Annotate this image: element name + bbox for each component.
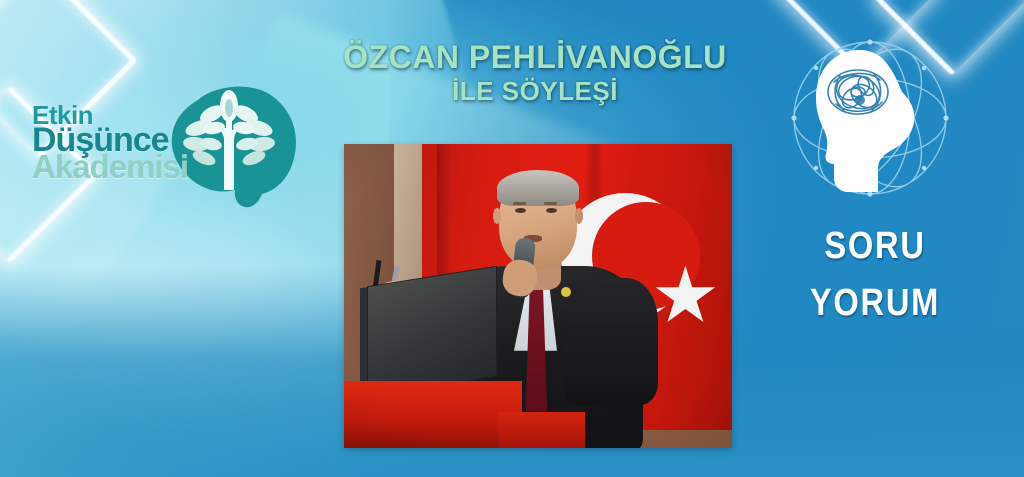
event-banner: Etkin Düşünce Akademisi ÖZCAN PEHLİVANOĞ…: [0, 0, 1024, 477]
logo-wordmark: Etkin Düşünce Akademisi: [32, 104, 188, 183]
speaker-photo: [344, 144, 732, 448]
yorum-label: YORUM: [776, 275, 974, 332]
photo-vignette: [344, 144, 732, 448]
page-subtitle: İLE SÖYLEŞİ: [300, 77, 770, 107]
logo-line-akademisi: Akademisi: [32, 152, 188, 182]
soru-label: SORU: [776, 218, 974, 275]
head-brain-atom-icon: [774, 28, 966, 214]
soru-yorum-block: SORU YORUM: [760, 28, 1010, 358]
event-title: ÖZCAN PEHLİVANOĞLU İLE SÖYLEŞİ: [300, 40, 770, 106]
page-title: ÖZCAN PEHLİVANOĞLU: [300, 40, 770, 75]
photo-stage: [344, 144, 732, 448]
academy-logo: Etkin Düşünce Akademisi: [24, 86, 314, 216]
soru-yorum-text: SORU YORUM: [760, 218, 990, 332]
